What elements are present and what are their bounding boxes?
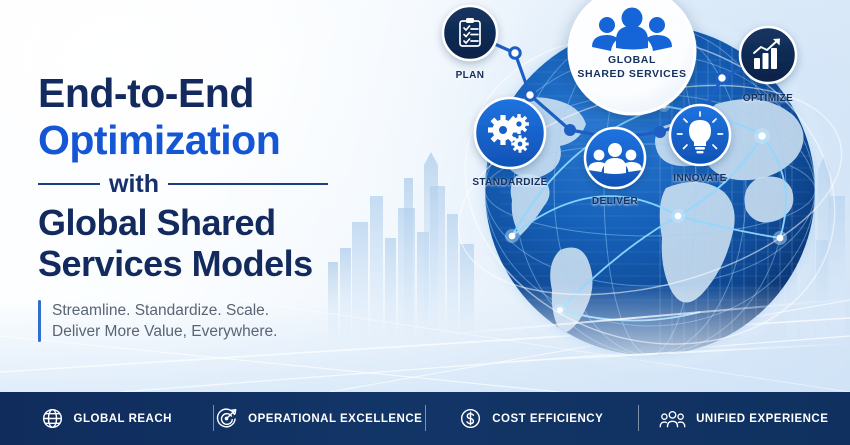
- feature-unified-experience[interactable]: UNIFIED EXPERIENCE: [638, 392, 850, 445]
- dollar-circle-icon: [459, 407, 482, 430]
- node-label-deliver: DELIVER: [592, 196, 638, 207]
- headline-line-2-accent: Optimization: [38, 116, 408, 164]
- feature-label: UNIFIED EXPERIENCE: [696, 413, 828, 425]
- globe-icon: [41, 407, 64, 430]
- hub-label-line-2: SHARED SERVICES: [577, 68, 686, 80]
- subtitle-accent-bar: [38, 300, 41, 342]
- feature-operational-excellence[interactable]: OPERATIONAL EXCELLENCE: [213, 392, 426, 445]
- feature-label: OPERATIONAL EXCELLENCE: [248, 413, 422, 425]
- people-group-icon: [659, 408, 686, 430]
- feature-cost-efficiency[interactable]: COST EFFICIENCY: [425, 392, 638, 445]
- node-label-plan: PLAN: [456, 70, 485, 81]
- bottom-feature-bar: GLOBAL REACH OPERATIONAL EXCELLENCE: [0, 392, 850, 445]
- headline-block: End-to-End Optimization with Global Shar…: [38, 70, 408, 342]
- node-label-standardize: STANDARDIZE: [472, 177, 547, 188]
- feature-label: COST EFFICIENCY: [492, 413, 603, 425]
- hub-label-line-1: GLOBAL: [608, 54, 656, 66]
- process-diagram: GLOBAL SHARED SERVICES: [410, 0, 850, 392]
- subtitle-line-1: Streamline. Standardize. Scale.: [52, 300, 277, 321]
- headline-line-4: Services Models: [38, 243, 408, 284]
- divider-rule-left: [38, 183, 100, 185]
- headline-line-3: Global Shared: [38, 202, 408, 243]
- marketing-banner: End-to-End Optimization with Global Shar…: [0, 0, 850, 445]
- subtitle-text: Streamline. Standardize. Scale. Deliver …: [52, 300, 277, 342]
- node-label-optimize: OPTIMIZE: [743, 93, 793, 104]
- node-label-innovate: INNOVATE: [673, 173, 726, 184]
- feature-label: GLOBAL REACH: [74, 413, 172, 425]
- target-arrow-icon: [215, 407, 238, 430]
- divider-rule-right: [168, 183, 328, 185]
- with-divider-row: with: [38, 170, 328, 198]
- subtitle-block: Streamline. Standardize. Scale. Deliver …: [38, 300, 408, 342]
- headline-connector-word: with: [109, 170, 159, 198]
- headline-line-1: End-to-End: [38, 70, 408, 116]
- subtitle-line-2: Deliver More Value, Everywhere.: [52, 321, 277, 342]
- feature-global-reach[interactable]: GLOBAL REACH: [0, 392, 213, 445]
